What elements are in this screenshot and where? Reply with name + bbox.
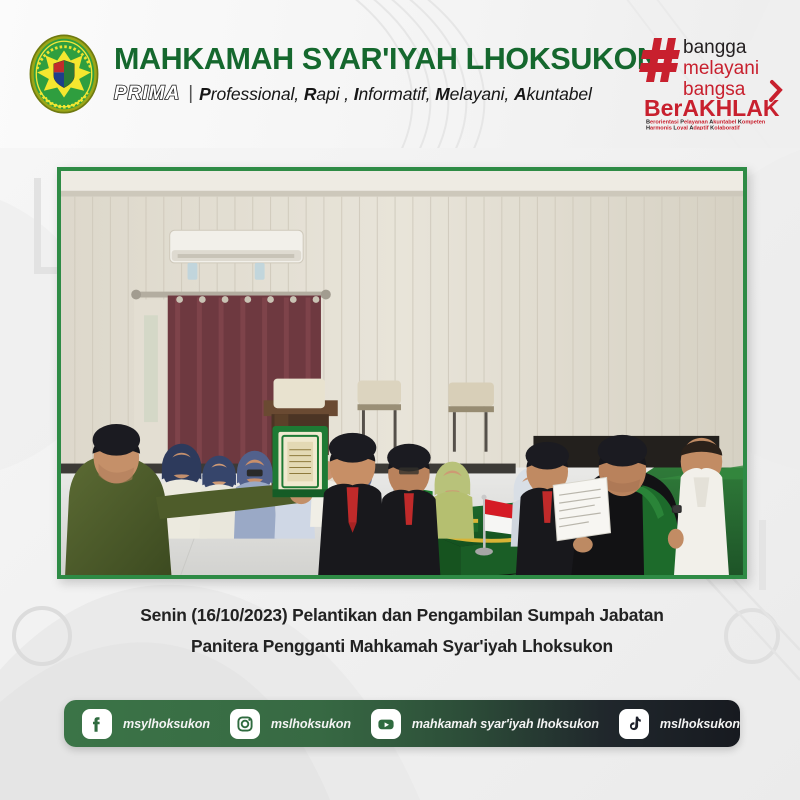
institution-title: MAHKAMAH SYAR'IYAH LHOKSUKON <box>114 42 659 77</box>
caption-line-1: Senin (16/10/2023) Pelantikan dan Pengam… <box>60 600 744 631</box>
instagram-icon[interactable] <box>230 709 260 739</box>
social-item-youtube[interactable]: mahkamah syar'iyah lhoksukon <box>371 700 599 747</box>
event-caption: Senin (16/10/2023) Pelantikan dan Pengam… <box>60 600 744 662</box>
institution-motto: PRIMA | Professional, Rapi , Informatif,… <box>114 83 659 105</box>
institution-seal-logo <box>22 32 106 116</box>
event-photo <box>61 171 743 578</box>
caption-line-2: Panitera Pengganti Mahkamah Syar'iyah Lh… <box>60 631 744 662</box>
youtube-icon[interactable] <box>371 709 401 739</box>
prima-acronym: PRIMA <box>114 83 180 105</box>
social-item-tiktok[interactable]: mslhoksukon <box>619 700 740 747</box>
berakhlak-line1: bangga <box>683 37 747 58</box>
quran-book <box>273 426 328 497</box>
motto-text: Professional, Rapi , Informatif, Melayan… <box>199 84 592 105</box>
facebook-icon[interactable] <box>82 709 112 739</box>
oath-document <box>553 477 610 540</box>
berakhlak-values-line2: Harmonis Loyal Adaptif Kolaboratif <box>646 126 740 131</box>
facebook-handle: msylhoksukon <box>123 717 210 731</box>
tiktok-handle: mslhoksukon <box>660 717 740 731</box>
social-media-bar: msylhoksukon mslhoksukon mahkamah syar'i… <box>64 700 740 747</box>
berakhlak-wordmark: BerAKHLAK <box>644 95 780 121</box>
berakhlak-logo-artwork: bangga melayani bangsa BerAKHLAK Berorie… <box>638 30 788 130</box>
youtube-handle: mahkamah syar'iyah lhoksukon <box>412 717 599 731</box>
tiktok-icon[interactable] <box>619 709 649 739</box>
social-item-facebook[interactable]: msylhoksukon <box>82 700 210 747</box>
social-item-instagram[interactable]: mslhoksukon <box>230 700 351 747</box>
berakhlak-logo: bangga melayani bangsa BerAKHLAK Berorie… <box>638 30 788 130</box>
hash-icon <box>639 38 680 82</box>
berakhlak-line2: melayani <box>683 58 759 79</box>
event-photo-frame <box>57 167 747 579</box>
header-title-block: MAHKAMAH SYAR'IYAH LHOKSUKON PRIMA | Pro… <box>114 42 659 105</box>
instagram-handle: mslhoksukon <box>271 717 351 731</box>
page-header: MAHKAMAH SYAR'IYAH LHOKSUKON PRIMA | Pro… <box>0 0 800 148</box>
motto-separator: | <box>188 83 193 105</box>
